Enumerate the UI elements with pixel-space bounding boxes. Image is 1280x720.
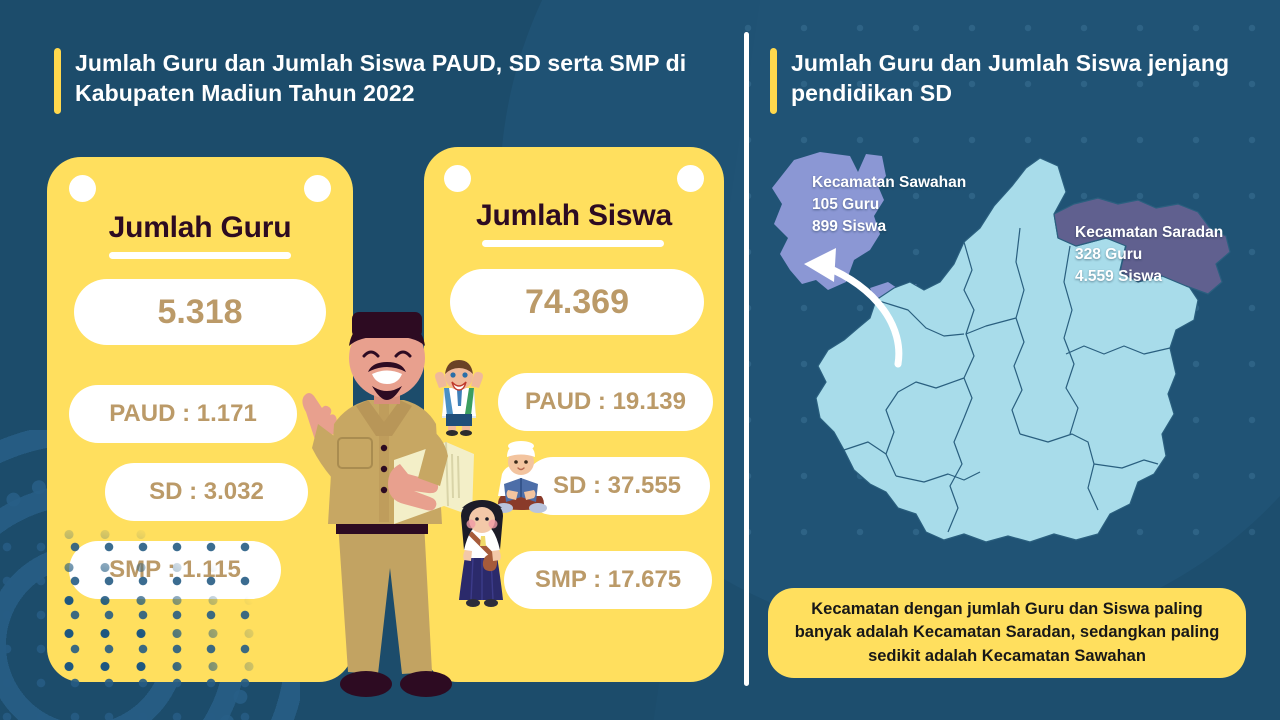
background-dot-cluster-bottom-left	[0, 530, 250, 720]
card-heading-underline	[482, 240, 664, 247]
student-boy-illustration-icon	[428, 358, 490, 436]
map-label-sawahan-students: 899 Siswa	[812, 216, 966, 238]
card-guru-row-paud: PAUD : 1.171	[69, 385, 297, 443]
card-siswa-heading: Jumlah Siswa	[424, 199, 724, 233]
title-accent-bar	[54, 48, 61, 114]
summary-note-box: Kecamatan dengan jumlah Guru dan Siswa p…	[768, 588, 1246, 678]
card-hole-right-icon	[304, 175, 331, 202]
map-label-sawahan-name: Kecamatan Sawahan	[812, 172, 966, 194]
map-label-sawahan: Kecamatan Sawahan 105 Guru 899 Siswa	[812, 172, 966, 238]
infographic-canvas: Jumlah Guru dan Jumlah Siswa PAUD, SD se…	[0, 0, 1280, 720]
card-guru-heading: Jumlah Guru	[47, 211, 353, 245]
title-left-text: Jumlah Guru dan Jumlah Siswa PAUD, SD se…	[75, 48, 714, 109]
card-siswa-row-paud: PAUD : 19.139	[498, 373, 713, 431]
title-right-text: Jumlah Guru dan Jumlah Siswa jenjang pen…	[791, 48, 1230, 109]
panel-divider	[744, 32, 749, 686]
map-label-saradan-students: 4.559 Siswa	[1075, 266, 1223, 288]
summary-note-text: Kecamatan dengan jumlah Guru dan Siswa p…	[784, 598, 1230, 668]
map-label-saradan-name: Kecamatan Saradan	[1075, 222, 1223, 244]
card-hole-right-icon	[677, 165, 704, 192]
map-label-saradan-teachers: 328 Guru	[1075, 244, 1223, 266]
page-title-left: Jumlah Guru dan Jumlah Siswa PAUD, SD se…	[54, 48, 714, 114]
map-label-saradan: Kecamatan Saradan 328 Guru 4.559 Siswa	[1075, 222, 1223, 288]
map-label-sawahan-teachers: 105 Guru	[812, 194, 966, 216]
card-hole-left-icon	[444, 165, 471, 192]
card-siswa-row-smp: SMP : 17.675	[504, 551, 712, 609]
card-heading-underline	[109, 252, 291, 259]
card-hole-left-icon	[69, 175, 96, 202]
title-accent-bar	[770, 48, 777, 114]
student-girl-illustration-icon	[453, 500, 511, 608]
page-title-right: Jumlah Guru dan Jumlah Siswa jenjang pen…	[770, 48, 1230, 114]
